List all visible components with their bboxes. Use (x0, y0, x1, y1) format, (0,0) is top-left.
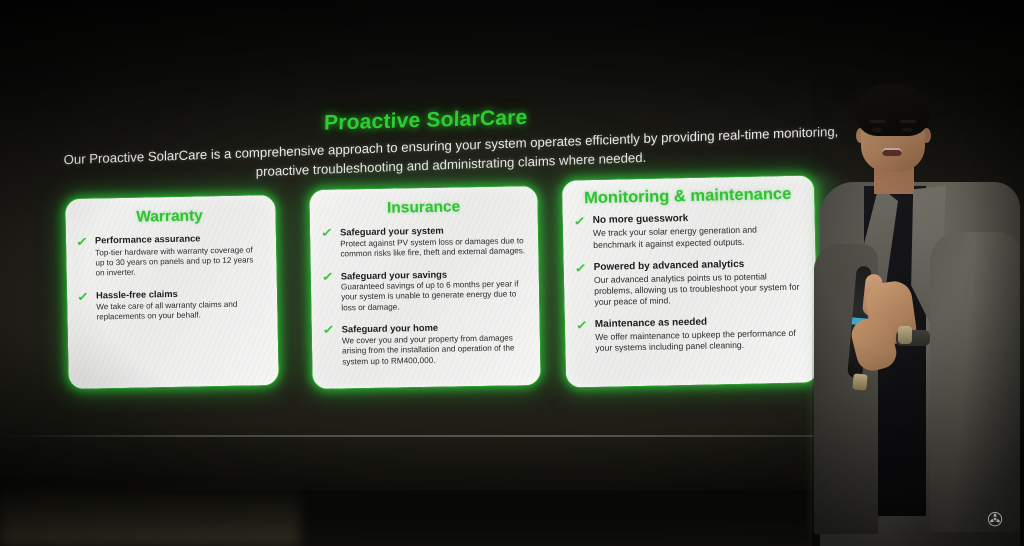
check-icon: ✓ (574, 262, 587, 275)
check-icon: ✓ (76, 236, 89, 249)
list-item: ✓ No more guesswork We track your solar … (575, 211, 803, 251)
check-icon: ✓ (77, 290, 90, 303)
mouth (882, 148, 902, 156)
watermark-logo: ✇ (984, 508, 1006, 532)
eyebrow-right (900, 120, 916, 123)
item-body: Protect against PV system loss or damage… (340, 236, 526, 260)
item-body: We take care of all warranty claims and … (96, 299, 264, 323)
presenter-figure (812, 82, 1024, 546)
check-icon: ✓ (321, 270, 334, 283)
card-title: Monitoring & maintenance (574, 185, 801, 208)
eyebrow-left (870, 120, 886, 123)
card-item-list: ✓ No more guesswork We track your solar … (575, 211, 805, 355)
card-item-list: ✓ Performance assurance Top-tier hardwar… (77, 233, 265, 324)
item-body: We cover you and your property from dama… (342, 333, 529, 368)
list-item: ✓ Safeguard your system Protect against … (322, 224, 527, 261)
presentation-photo: Proactive SolarCare Our Proactive SolarC… (0, 0, 1024, 546)
eye-right (902, 128, 912, 132)
card-title: Warranty (76, 206, 262, 227)
check-icon: ✓ (573, 216, 586, 229)
card-item-list: ✓ Safeguard your system Protect against … (322, 224, 528, 368)
jacket-sleeve-right (930, 232, 1020, 532)
microphone-base (852, 373, 867, 390)
list-item: ✓ Maintenance as needed We offer mainten… (577, 315, 805, 355)
check-icon: ✓ (321, 227, 334, 240)
item-body: We offer maintenance to upkeep the perfo… (595, 328, 804, 355)
card-warranty: Warranty ✓ Performance assurance Top-tie… (64, 194, 280, 390)
floor-light-glow (0, 486, 300, 546)
card-title: Insurance (321, 197, 525, 218)
item-body: Top-tier hardware with warranty coverage… (95, 245, 264, 279)
list-item: ✓ Performance assurance Top-tier hardwar… (77, 233, 264, 280)
list-item: ✓ Hassle-free claims We take care of all… (78, 287, 265, 323)
item-body: We track your solar energy generation an… (593, 224, 802, 251)
item-body: Guaranteed savings of up to 6 months per… (341, 279, 528, 314)
item-body: Our advanced analytics points us to pote… (594, 270, 804, 308)
list-item: ✓ Safeguard your savings Guaranteed savi… (323, 267, 528, 314)
eye-left (872, 128, 882, 132)
hair (856, 84, 930, 136)
wristwatch (898, 326, 912, 344)
check-icon: ✓ (576, 319, 589, 332)
card-insurance: Insurance ✓ Safeguard your system Protec… (308, 185, 541, 390)
list-item: ✓ Powered by advanced analytics Our adva… (576, 257, 804, 308)
card-monitoring-maintenance: Monitoring & maintenance ✓ No more guess… (561, 174, 819, 388)
list-item: ✓ Safeguard your home We cover you and y… (324, 321, 529, 368)
check-icon: ✓ (322, 324, 335, 337)
